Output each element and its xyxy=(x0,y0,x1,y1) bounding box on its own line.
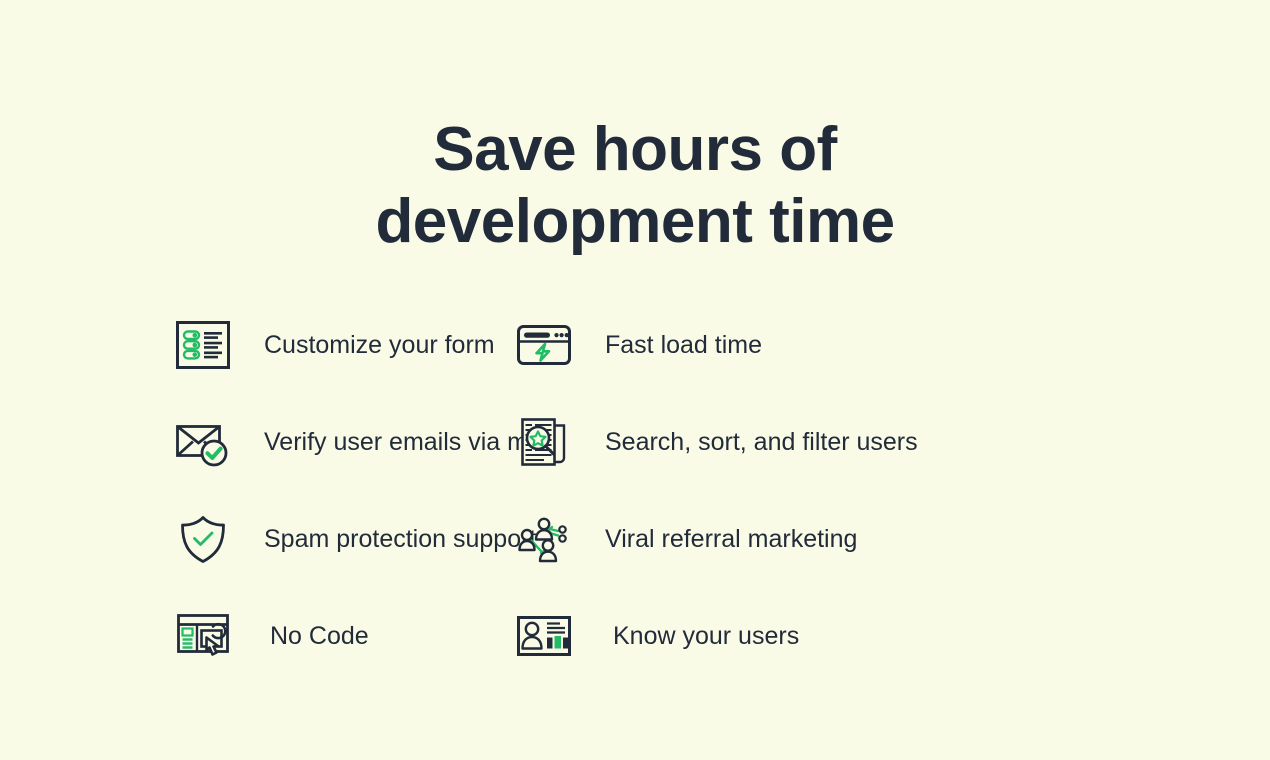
feature-label: Search, sort, and filter users xyxy=(605,427,918,457)
user-profile-chart-icon xyxy=(512,604,576,668)
mail-check-icon xyxy=(171,410,235,474)
feature-item-verify-emails: Verify user emails via mail xyxy=(0,410,505,474)
page-title: Save hours of development time xyxy=(0,114,1270,258)
feature-item-customize-form: Customize your form xyxy=(0,313,505,377)
feature-row: Spam protection support xyxy=(0,490,1270,587)
feature-label: Know your users xyxy=(613,621,799,651)
feature-item-know-users: Know your users xyxy=(505,604,1065,668)
feature-item-no-code: No Code xyxy=(0,604,505,668)
feature-item-viral-referral: Viral referral marketing xyxy=(505,507,1065,571)
shield-check-icon xyxy=(171,507,235,571)
feature-item-fast-load: Fast load time xyxy=(505,313,1065,377)
feature-label: Fast load time xyxy=(605,330,762,360)
feature-item-search-filter: Search, sort, and filter users xyxy=(505,410,1065,474)
feature-label: Viral referral marketing xyxy=(605,524,857,554)
feature-list: Customize your form xyxy=(0,296,1270,684)
feature-row: No Code xyxy=(0,587,1270,684)
document-search-icon xyxy=(512,410,576,474)
form-list-icon xyxy=(171,313,235,377)
browser-bolt-icon xyxy=(512,313,576,377)
feature-item-spam-protection: Spam protection support xyxy=(0,507,505,571)
feature-row: Verify user emails via mail xyxy=(0,393,1270,490)
feature-label: Spam protection support xyxy=(264,524,536,554)
no-code-builder-icon xyxy=(171,604,235,668)
feature-label: No Code xyxy=(270,621,369,651)
feature-row: Customize your form xyxy=(0,296,1270,393)
page-title-line-2: development time xyxy=(0,186,1270,258)
referral-network-icon xyxy=(512,507,576,571)
page-title-line-1: Save hours of xyxy=(0,114,1270,186)
feature-highlight-page: Save hours of development time xyxy=(0,0,1270,760)
feature-label: Customize your form xyxy=(264,330,495,360)
